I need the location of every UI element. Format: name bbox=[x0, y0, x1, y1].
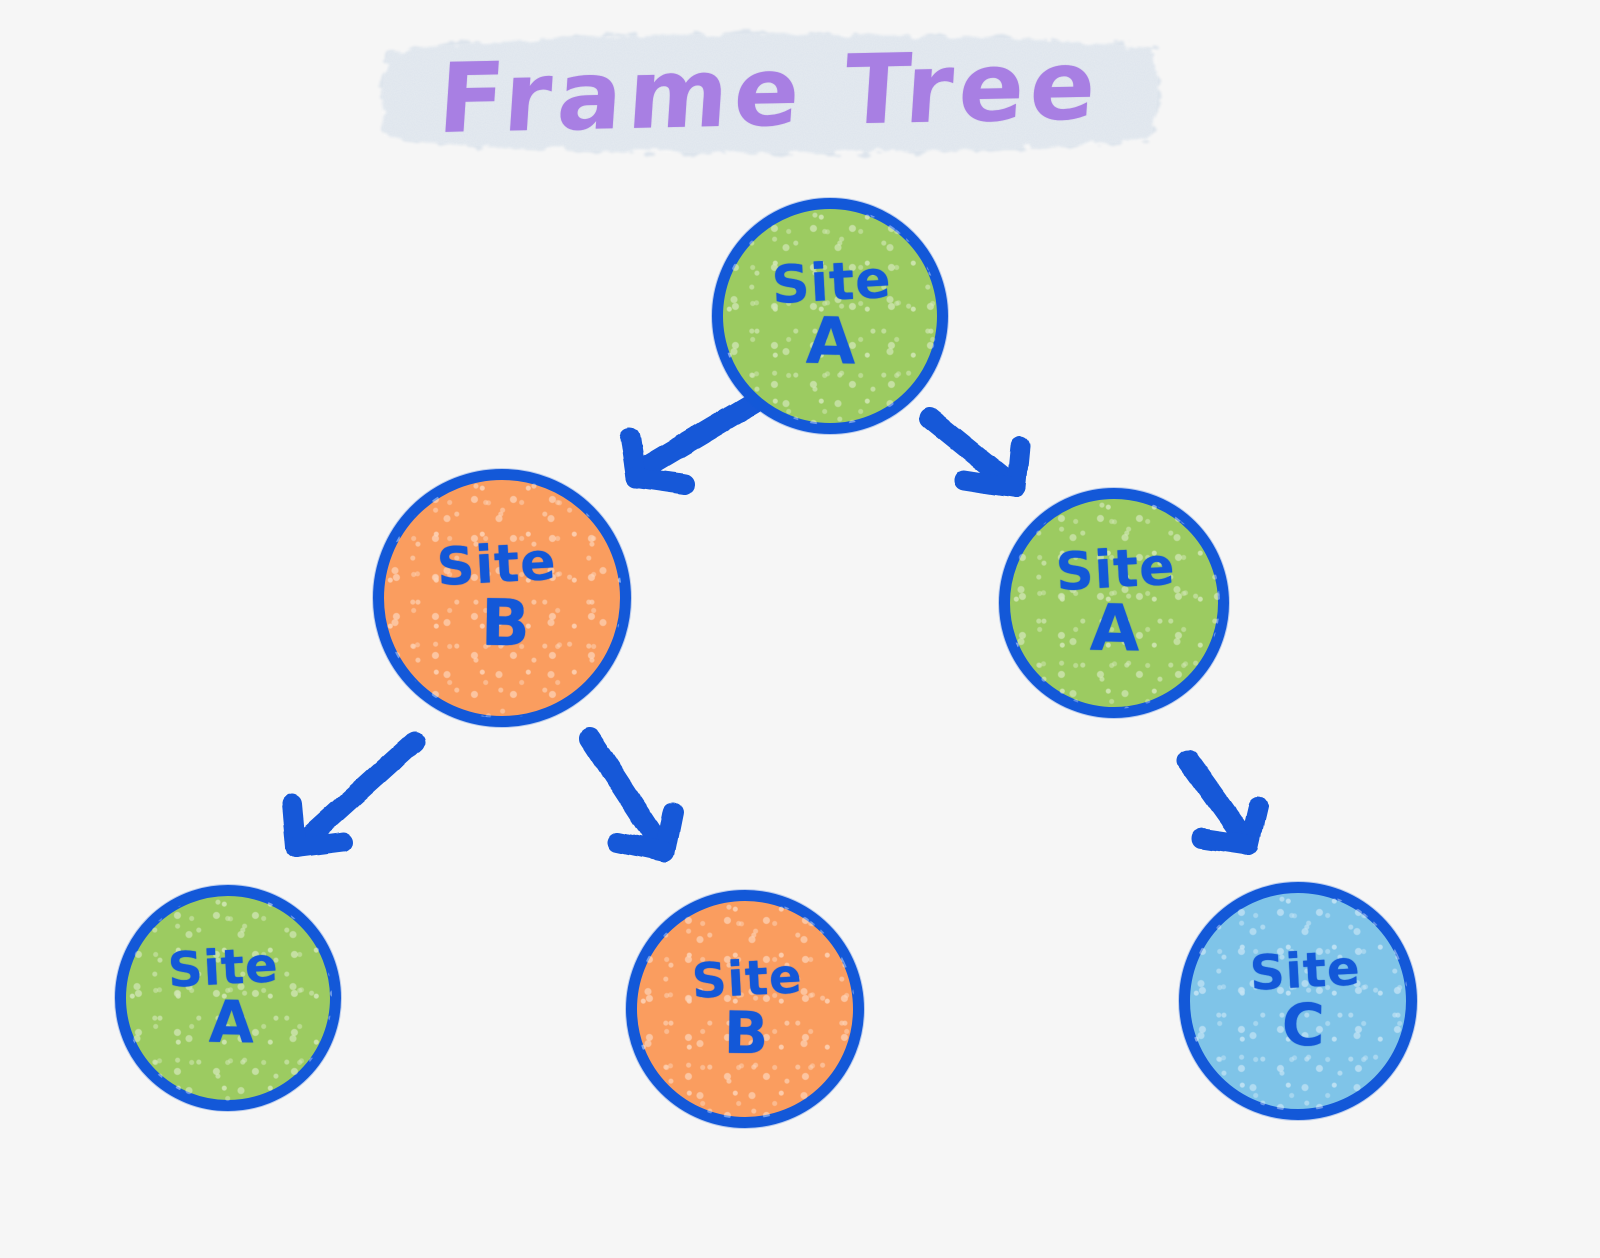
node-label-top: Site bbox=[691, 954, 804, 1005]
node-label-top: Site bbox=[436, 538, 558, 594]
node-label-top: Site bbox=[167, 943, 280, 994]
diagram-canvas: Frame Tree bbox=[0, 0, 1600, 1258]
edge-siteA-to-siteC bbox=[1188, 760, 1258, 845]
node-site-b-left[interactable]: Site B bbox=[373, 469, 631, 727]
node-site-a-right[interactable]: Site A bbox=[999, 488, 1229, 718]
edge-siteB-to-siteB-bottom bbox=[590, 738, 673, 852]
page-title: Frame Tree bbox=[370, 18, 1170, 166]
node-label-top: Site bbox=[1055, 543, 1177, 599]
node-label-bottom: A bbox=[806, 312, 857, 374]
node-site-a-bottom-left[interactable]: Site A bbox=[115, 885, 341, 1111]
edge-siteB-to-siteA-bottom bbox=[292, 742, 414, 848]
node-label-bottom: C bbox=[1281, 998, 1325, 1054]
page-title-text: Frame Tree bbox=[365, 10, 1175, 175]
node-site-c-bottom-right[interactable]: Site C bbox=[1179, 882, 1417, 1120]
node-label-top: Site bbox=[1249, 946, 1362, 997]
edge-root-to-siteB bbox=[630, 404, 752, 484]
node-root-site-a[interactable]: Site A bbox=[712, 198, 948, 434]
node-site-b-bottom-center[interactable]: Site B bbox=[626, 890, 864, 1128]
node-label-top: Site bbox=[771, 256, 893, 312]
node-label-bottom: A bbox=[208, 995, 254, 1051]
node-label-bottom: A bbox=[1090, 599, 1141, 661]
node-label-bottom: B bbox=[723, 1006, 768, 1062]
node-label-bottom: B bbox=[480, 594, 530, 656]
edge-root-to-siteA-right bbox=[930, 418, 1020, 488]
